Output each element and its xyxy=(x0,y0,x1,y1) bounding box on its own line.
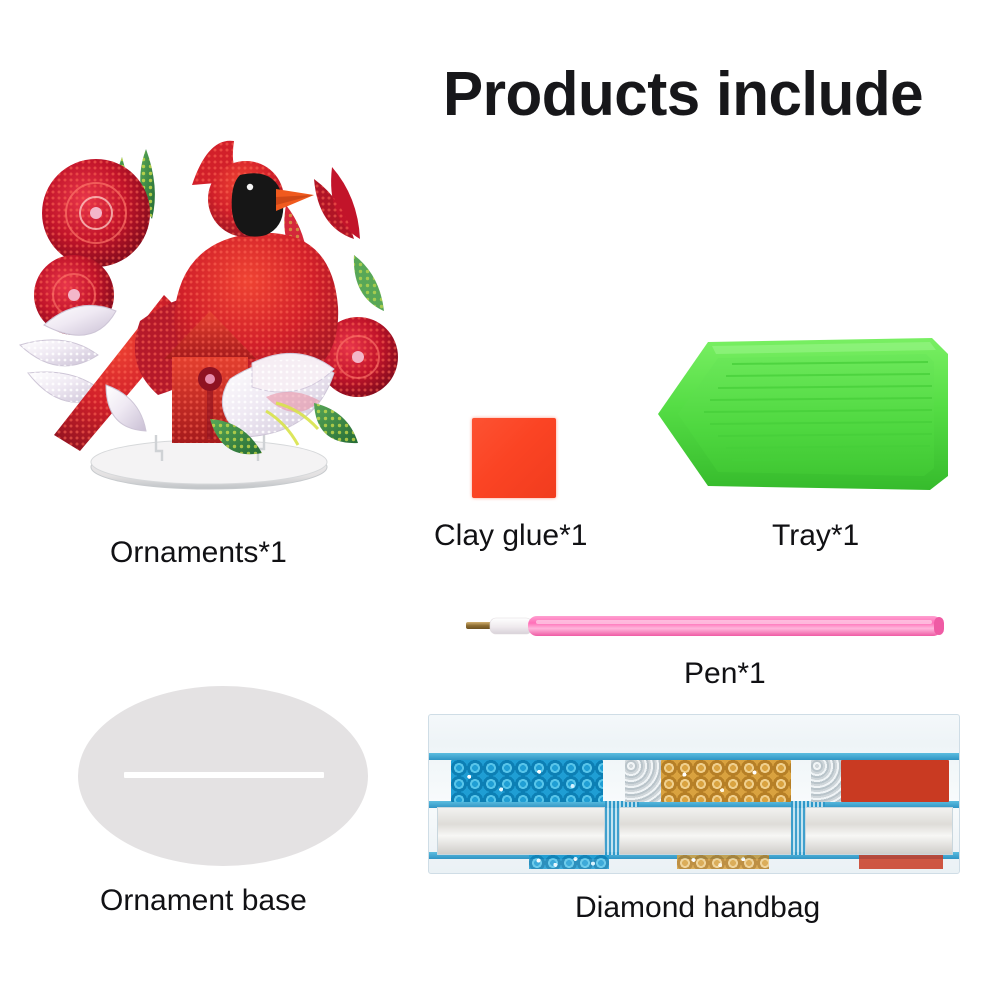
pen-illustration xyxy=(466,612,946,640)
ornament-base-illustration xyxy=(78,686,368,866)
ornament-base-label: Ornament base xyxy=(100,886,307,916)
clay-glue-swatch xyxy=(472,418,556,498)
drill-spill-gold xyxy=(677,855,769,869)
ornament-svg xyxy=(14,135,404,505)
page-title: Products include xyxy=(443,64,972,126)
base-slot xyxy=(124,772,324,778)
pen-svg xyxy=(466,612,946,640)
foil-strip-2 xyxy=(619,807,793,855)
ornament-illustration xyxy=(14,135,404,505)
ornaments-label: Ornaments*1 xyxy=(110,538,287,568)
tray-svg xyxy=(652,318,952,510)
clay-glue-label: Clay glue*1 xyxy=(434,521,587,551)
drill-spill-red xyxy=(859,855,943,869)
foil-strip-3 xyxy=(805,807,953,855)
tray-illustration xyxy=(652,318,952,510)
tray-label: Tray*1 xyxy=(772,521,859,551)
pen-label: Pen*1 xyxy=(684,659,766,689)
diamond-handbag-illustration xyxy=(428,714,960,874)
drill-spill-blue xyxy=(529,855,609,869)
foil-strip-1 xyxy=(437,807,605,855)
product-contents-page: Products include xyxy=(0,0,1001,1001)
handbag-body xyxy=(428,714,960,874)
diamond-handbag-label: Diamond handbag xyxy=(575,893,820,923)
handbag-seal-top xyxy=(429,753,959,760)
drill-compartment-red xyxy=(841,760,949,802)
drill-compartment-blue xyxy=(451,760,603,802)
drill-compartment-clear-2 xyxy=(811,760,845,802)
drill-compartment-gold xyxy=(661,760,791,802)
